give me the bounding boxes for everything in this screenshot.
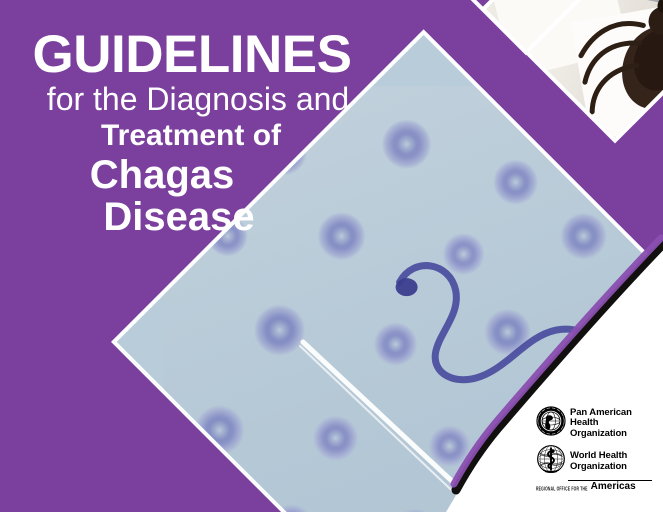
title-line-disease: Disease [0, 197, 370, 237]
who-line-1: World Health [570, 450, 627, 461]
logo-lockup: Pan American Health Organization [536, 406, 658, 492]
title-line-treatment: Treatment of [12, 121, 370, 151]
who-logo: World Health Organization [536, 444, 658, 479]
title-line-subtitle: for the Diagnosis and [26, 83, 370, 115]
who-region-americas: Americas [591, 482, 636, 492]
who-rod-of-asclepius-emblem [536, 444, 566, 479]
who-region-multilingual: REGIONAL OFFICE FOR THE [536, 486, 588, 492]
title-line-chagas: Chagas [0, 155, 370, 195]
paho-line-2: Health [570, 417, 598, 428]
title-line-guidelines: GUIDELINES [14, 28, 370, 81]
paho-line-3: Organization [570, 428, 627, 439]
paho-logo: Pan American Health Organization [536, 406, 658, 441]
paho-line-1: Pan American [570, 407, 632, 418]
who-wordmark: World Health Organization [570, 451, 627, 472]
paho-wordmark: Pan American Health Organization [570, 408, 632, 440]
publication-cover: GUIDELINES for the Diagnosis and Treatme… [0, 0, 663, 512]
cover-title-block: GUIDELINES for the Diagnosis and Treatme… [0, 28, 370, 237]
who-region-row: REGIONAL OFFICE FOR THE Americas [536, 482, 658, 492]
paho-globe-emblem [536, 406, 566, 441]
who-line-2: Organization [570, 461, 627, 472]
